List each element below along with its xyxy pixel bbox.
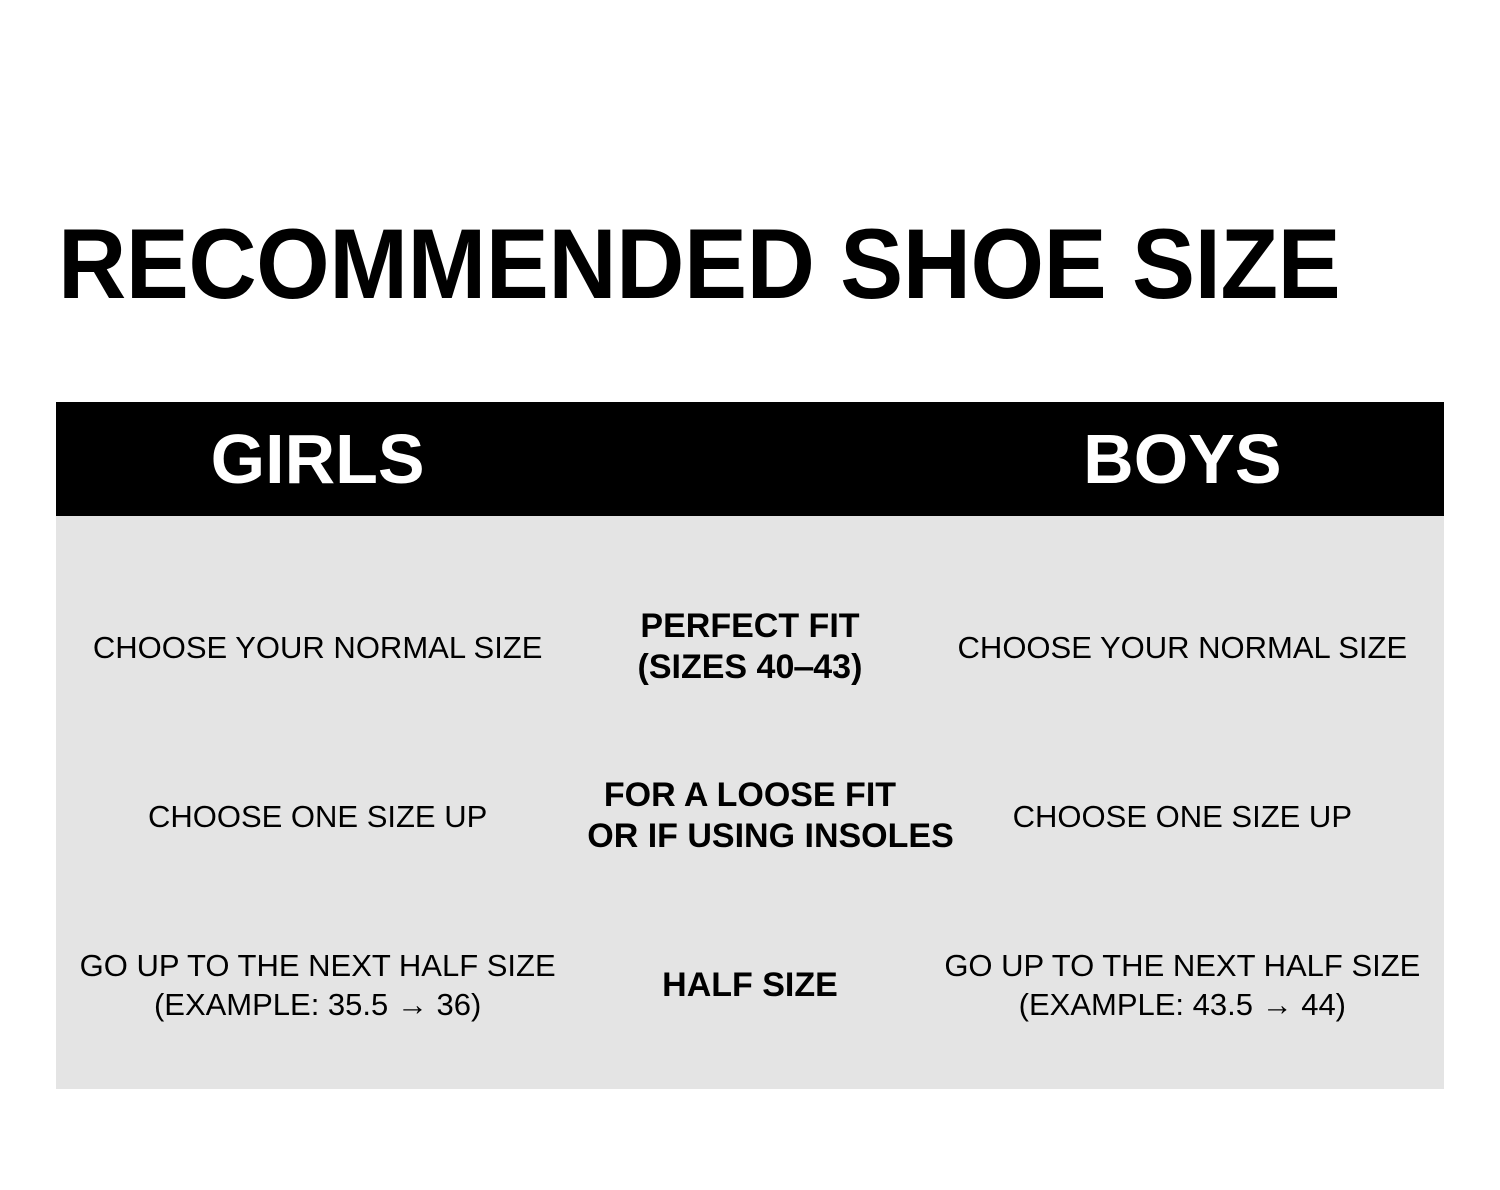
table-row: GO UP TO THE NEXT HALF SIZE (EXAMPLE: 35… (56, 912, 1444, 1058)
fit-description-line-2: (SIZES 40‒43) (587, 647, 912, 688)
girls-recommendation-line-1: CHOOSE ONE SIZE UP (64, 797, 571, 836)
row-divider (56, 889, 1444, 912)
fit-description-cell: FOR A LOOSE FIT OR IF USING INSOLES (579, 775, 920, 857)
fit-description-line-1: FOR A LOOSE FIT (587, 775, 912, 816)
boys-recommendation-cell: GO UP TO THE NEXT HALF SIZE (EXAMPLE: 43… (921, 946, 1444, 1024)
table-header-boys: BOYS (921, 423, 1444, 495)
shoe-size-table: GIRLS BOYS CHOOSE YOUR NORMAL SIZE PERFE… (56, 402, 1444, 1089)
table-header-row: GIRLS BOYS (56, 402, 1444, 516)
girls-recommendation-line-2: (EXAMPLE: 35.5 → 36) (64, 985, 571, 1024)
boys-recommendation-line-1: CHOOSE YOUR NORMAL SIZE (929, 628, 1436, 667)
fit-description-cell: HALF SIZE (579, 965, 920, 1006)
girls-recommendation-cell: GO UP TO THE NEXT HALF SIZE (EXAMPLE: 35… (56, 946, 579, 1024)
boys-recommendation-line-1: CHOOSE ONE SIZE UP (929, 797, 1436, 836)
girls-recommendation-cell: CHOOSE ONE SIZE UP (56, 797, 579, 836)
girls-recommendation-line-1: GO UP TO THE NEXT HALF SIZE (64, 946, 571, 985)
page-title: RECOMMENDED SHOE SIZE (58, 212, 1385, 316)
table-header-girls: GIRLS (56, 423, 579, 495)
boys-recommendation-cell: CHOOSE ONE SIZE UP (921, 797, 1444, 836)
boys-recommendation-line-1: GO UP TO THE NEXT HALF SIZE (929, 946, 1436, 985)
fit-description-line-1: PERFECT FIT (587, 606, 912, 647)
table-row: CHOOSE YOUR NORMAL SIZE PERFECT FIT (SIZ… (56, 574, 1444, 720)
girls-recommendation-cell: CHOOSE YOUR NORMAL SIZE (56, 628, 579, 667)
boys-recommendation-line-2: (EXAMPLE: 43.5 → 44) (929, 985, 1436, 1024)
row-divider (56, 720, 1444, 743)
table-row: CHOOSE ONE SIZE UP FOR A LOOSE FIT OR IF… (56, 743, 1444, 889)
size-guide-page: RECOMMENDED SHOE SIZE GIRLS BOYS CHOOSE … (0, 0, 1500, 1190)
fit-description-cell: PERFECT FIT (SIZES 40‒43) (579, 606, 920, 688)
fit-description-line-1: HALF SIZE (587, 965, 912, 1006)
fit-description-line-2: OR IF USING INSOLES (587, 816, 912, 857)
table-body: CHOOSE YOUR NORMAL SIZE PERFECT FIT (SIZ… (56, 516, 1444, 1089)
girls-recommendation-line-1: CHOOSE YOUR NORMAL SIZE (64, 628, 571, 667)
boys-recommendation-cell: CHOOSE YOUR NORMAL SIZE (921, 628, 1444, 667)
